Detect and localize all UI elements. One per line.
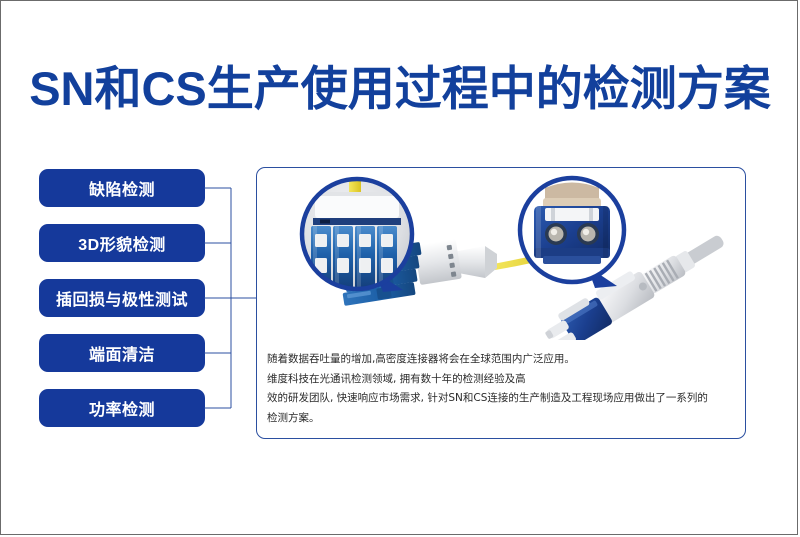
bracket-connector (204, 169, 259, 419)
nav-button-insertion-return-loss-polarity[interactable]: 插回损与极性测试 (39, 279, 205, 317)
paragraph-line-2: 维度科技在光通讯检测领域, 拥有数十年的检测经验及高 (267, 370, 733, 390)
nav-button-label: 3D形貌检测 (78, 231, 165, 255)
nav-button-endface-cleaning[interactable]: 端面清洁 (39, 334, 205, 372)
paragraph-line-1: 随着数据吞吐量的增加,高密度连接器将会在全球范围内广泛应用。 (267, 350, 733, 370)
nav-button-label: 插回损与极性测试 (56, 286, 188, 310)
nav-button-power-measurement[interactable]: 功率检测 (39, 389, 205, 427)
paragraph-line-3: 效的研发团队, 快速响应市场需求, 针对SN和CS连接的生产制造及工程现场应用做… (267, 389, 733, 409)
page-title: SN和CS生产使用过程中的检测方案 (1, 61, 798, 117)
product-photo-area (257, 168, 743, 340)
paragraph-line-4: 检测方案。 (267, 409, 733, 429)
cs-endface-magnifier (520, 178, 624, 282)
content-panel: 随着数据吞吐量的增加,高密度连接器将会在全球范围内广泛应用。 维度科技在光通讯检… (256, 167, 746, 439)
sn-endface-magnifier (302, 170, 412, 289)
nav-button-label: 缺陷检测 (89, 176, 155, 200)
slide-root: SN和CS生产使用过程中的检测方案 缺陷检测 3D形貌检测 插回损与极性测试 端… (0, 0, 798, 535)
nav-button-stack: 缺陷检测 3D形貌检测 插回损与极性测试 端面清洁 功率检测 (39, 169, 205, 427)
product-illustration (257, 168, 743, 340)
nav-button-3d-topography[interactable]: 3D形貌检测 (39, 224, 205, 262)
nav-button-defect-inspection[interactable]: 缺陷检测 (39, 169, 205, 207)
nav-button-label: 功率检测 (89, 396, 155, 420)
nav-button-label: 端面清洁 (89, 341, 155, 365)
panel-paragraph: 随着数据吞吐量的增加,高密度连接器将会在全球范围内广泛应用。 维度科技在光通讯检… (267, 350, 733, 428)
